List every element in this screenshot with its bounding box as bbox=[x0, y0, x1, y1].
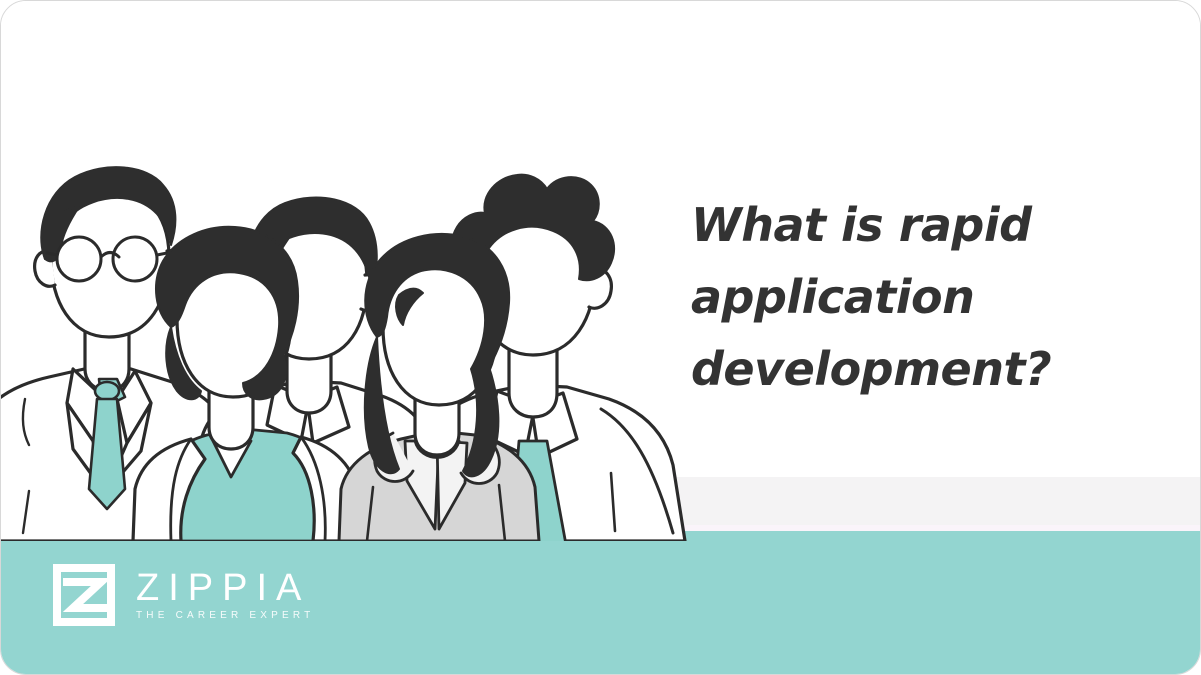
zippia-tagline: THE CAREER EXPERT bbox=[136, 609, 314, 623]
hero-heading: What is rapid application development? bbox=[691, 189, 1111, 405]
zippia-logo[interactable]: ZIPPIA THE CAREER EXPERT bbox=[53, 564, 314, 626]
heading-line-3: development? bbox=[691, 333, 1111, 405]
article-hero-card: What is rapid application development? Z… bbox=[0, 0, 1201, 675]
heading-line-1: What is rapid bbox=[691, 189, 1111, 261]
zippia-logo-text: ZIPPIA THE CAREER EXPERT bbox=[136, 568, 314, 623]
zippia-z-mark-icon bbox=[53, 564, 115, 626]
zippia-wordmark: ZIPPIA bbox=[136, 568, 314, 608]
group-of-professionals-illustration bbox=[1, 141, 701, 541]
heading-line-2: application bbox=[691, 261, 1111, 333]
